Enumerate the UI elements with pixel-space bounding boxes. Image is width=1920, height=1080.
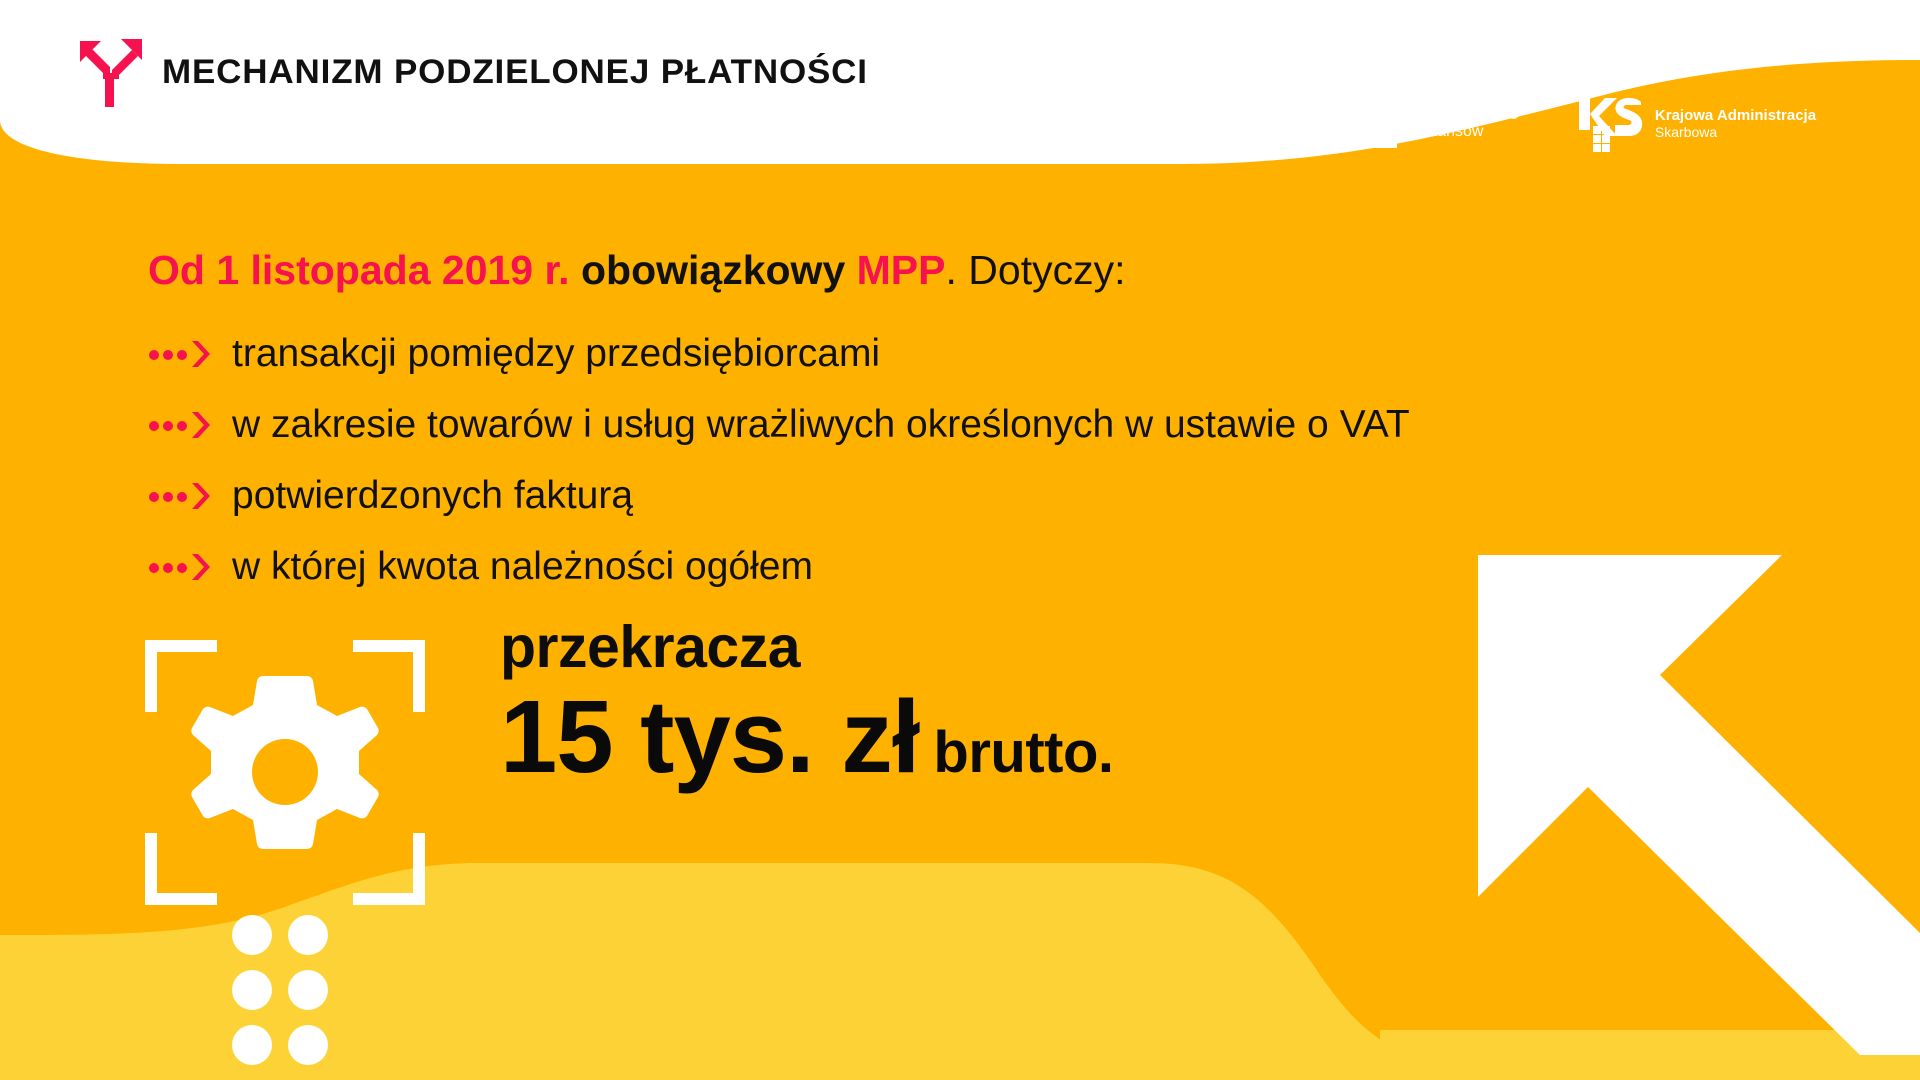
page-title: MECHANIZM PODZIELONEJ PŁATNOŚCI <box>162 53 868 92</box>
list-item: transakcji pomiędzy przedsiębiorcami <box>148 318 1888 389</box>
bullet-text: w której kwota należności ogółem <box>232 547 813 586</box>
lead-date: Od 1 listopada 2019 r. <box>148 247 570 293</box>
bullet-text: potwierdzonych fakturą <box>232 476 633 515</box>
slide-canvas: MECHANIZM PODZIELONEJ PŁATNOŚCI Minister… <box>0 0 1920 1080</box>
statement-amount: 15 tys. zł <box>500 685 919 788</box>
large-up-left-arrow-icon <box>1430 525 1920 1080</box>
dots-chevron-bullet-icon <box>148 554 210 580</box>
statement-line2: 15 tys. zł brutto. <box>500 685 1114 788</box>
dots-chevron-bullet-icon <box>148 412 210 438</box>
krajowa-administracja-skarbowa-logo: Krajowa Administracja Skarbowa <box>1579 96 1816 152</box>
krajowa-administracja-skarbowa-logo-icon <box>1579 96 1643 152</box>
ministerstwo-finansow-logo: Ministerstwo Finansów <box>1345 96 1519 148</box>
institution-logos: Ministerstwo Finansów <box>1345 96 1816 152</box>
krajowa-administracja-skarbowa-label: Krajowa Administracja Skarbowa <box>1655 108 1816 140</box>
brand: MECHANIZM PODZIELONEJ PŁATNOŚCI <box>78 36 847 108</box>
ministerstwo-finansow-logo-icon <box>1345 96 1403 148</box>
gear-in-brackets-icon <box>145 640 425 905</box>
bullet-text: w zakresie towarów i usług wrażliwych ok… <box>232 405 1410 444</box>
bullet-list: transakcji pomiędzy przedsiębiorcami w z… <box>148 318 1888 602</box>
list-item: w której kwota należności ogółem <box>148 531 1888 602</box>
dots-chevron-bullet-icon <box>148 483 210 509</box>
lead-paragraph: Od 1 listopada 2019 r. obowiązkowy MPP. … <box>148 245 1888 296</box>
ministerstwo-finansow-label: Ministerstwo Finansów <box>1415 104 1519 141</box>
lead-obligatory: obowiązkowy <box>581 247 845 293</box>
statement-block: przekracza 15 tys. zł brutto. <box>500 617 1114 788</box>
bullet-text: transakcji pomiędzy przedsiębiorcami <box>232 334 880 373</box>
statement-line1: przekracza <box>500 617 1114 679</box>
lead-tail: . Dotyczy: <box>946 247 1126 293</box>
lead-mpp: MPP <box>857 247 946 293</box>
list-item: w zakresie towarów i usług wrażliwych ok… <box>148 389 1888 460</box>
split-payment-arrows-icon <box>78 37 144 107</box>
main-content: Od 1 listopada 2019 r. obowiązkowy MPP. … <box>148 245 1888 602</box>
header: MECHANIZM PODZIELONEJ PŁATNOŚCI Minister… <box>0 0 1920 190</box>
dots-chevron-bullet-icon <box>148 341 210 367</box>
dots-grid-decoration <box>230 915 330 1065</box>
list-item: potwierdzonych fakturą <box>148 460 1888 531</box>
statement-suffix: brutto. <box>933 724 1113 782</box>
